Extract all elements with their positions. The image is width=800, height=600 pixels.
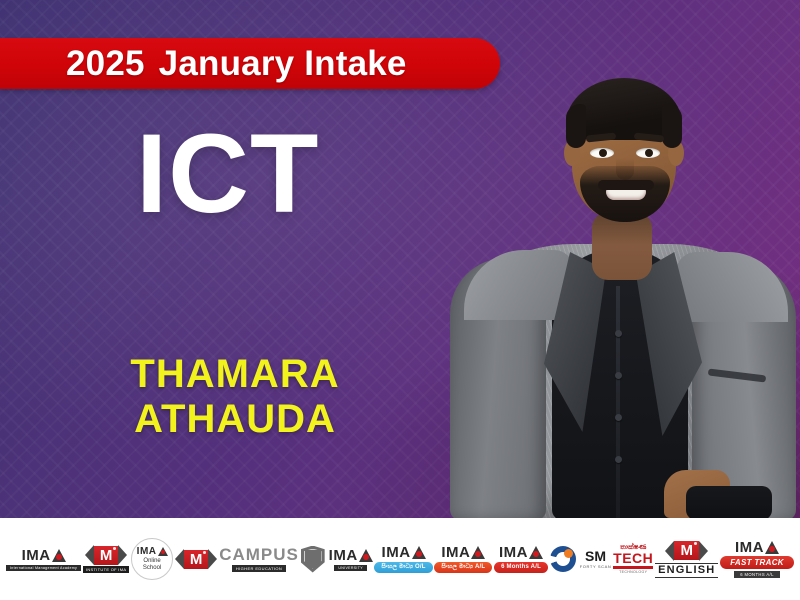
shirt-cuff — [686, 486, 772, 518]
hair-side-right — [662, 104, 682, 148]
sm-tagline: FORTY SCAN — [580, 564, 612, 569]
ima-letters: IMA — [137, 547, 157, 557]
ima-triangle-icon — [158, 547, 168, 556]
m-letter: M — [680, 543, 693, 558]
m-block-mark: M — [175, 549, 218, 569]
logo-tech: තාක්ෂණ TECH TECHNOLOGY — [613, 537, 653, 581]
sinhala-ol-badge: සිංහල මාධ්‍ය O/L — [374, 562, 432, 573]
ima-wordmark: IMA — [329, 548, 373, 563]
right-pupil — [645, 149, 653, 157]
arrow-right-icon — [208, 549, 217, 569]
ima-wordmark: IMA — [499, 545, 543, 560]
ima-letters: IMA — [499, 545, 528, 560]
arrow-left-icon — [175, 549, 184, 569]
tech-mark: තාක්ෂණ TECH TECHNOLOGY — [613, 544, 653, 574]
m-letter: M — [190, 552, 203, 567]
tech-underline — [613, 566, 653, 569]
logo-sm-forty-scan: SM FORTY SCAN — [550, 537, 612, 581]
ima-letters: IMA — [329, 548, 358, 563]
logo-ima-sinhala-ol: IMA සිංහල මාධ්‍ය O/L — [374, 537, 432, 581]
arrow-left-icon — [665, 541, 674, 561]
registered-dot-icon — [113, 547, 116, 550]
fast-track-duration: 6 MONTHS A/L — [734, 571, 780, 578]
logo-ima-sinhala-al: IMA සිංහල මාධ්‍ය A/L — [434, 537, 492, 581]
logo-ima-m-block: M INSTITUTE OF IMA — [83, 537, 129, 581]
m-block-mark: M — [665, 541, 708, 561]
ima-letters: IMA — [382, 545, 411, 560]
m-letter-box: M — [184, 550, 209, 569]
campus-tagline: HIGHER EDUCATION — [232, 565, 286, 572]
shirt-button — [615, 330, 622, 337]
ima-triangle-icon — [765, 541, 779, 554]
logo-ima-main: IMA International Management Academy — [6, 537, 81, 581]
online-school-circle: IMA Online School — [131, 538, 173, 580]
intake-ribbon-text: 2025January Intake — [66, 46, 407, 81]
shirt-button — [615, 414, 622, 421]
m-letter-box: M — [94, 546, 119, 565]
online-school-line1: Online — [143, 558, 160, 564]
m-block-caption: INSTITUTE OF IMA — [83, 566, 129, 573]
ima-letters: IMA — [22, 548, 51, 563]
campus-wordmark: CAMPUS — [219, 546, 299, 563]
logo-campus: CAMPUS HIGHER EDUCATION — [219, 537, 299, 581]
english-label: ENGLISH — [655, 563, 718, 578]
logo-ima-fast-track: IMA FAST TRACK 6 MONTHS A/L — [720, 537, 794, 581]
ima-wordmark: IMA — [137, 547, 168, 557]
ima-triangle-icon — [529, 546, 543, 559]
tech-tagline: TECHNOLOGY — [619, 570, 647, 574]
online-school-line2: School — [143, 565, 161, 571]
ima-triangle-icon — [471, 546, 485, 559]
fast-track-badge: FAST TRACK — [720, 556, 794, 569]
intake-label: January Intake — [159, 44, 407, 83]
logo-ima-english: M ENGLISH — [655, 537, 718, 581]
instructor-name: THAMARA ATHAUDA — [0, 352, 470, 442]
arrow-right-icon — [118, 545, 127, 565]
sm-wordmark: SM — [585, 549, 606, 563]
ima-wordmark: IMA — [22, 548, 66, 563]
intake-ribbon: 2025January Intake — [0, 38, 500, 89]
university-tagline: UNIVERSITY — [334, 565, 367, 571]
shirt-button — [615, 372, 622, 379]
logo-ima-6-months-al: IMA 6 Months A/L — [494, 537, 548, 581]
hair-side-left — [566, 104, 586, 148]
moustache — [598, 180, 654, 190]
tech-wordmark: TECH — [613, 551, 653, 565]
shirt-placket — [616, 286, 620, 518]
shirt-button — [615, 456, 622, 463]
m-letter: M — [100, 548, 113, 563]
ima-triangle-icon — [412, 546, 426, 559]
partner-logo-bar: IMA International Management Academy M I… — [0, 518, 800, 600]
registered-dot-icon — [694, 542, 697, 545]
ima-triangle-icon — [52, 549, 66, 562]
promo-poster: 2025January Intake ICT THAMARA ATHAUDA I… — [0, 0, 800, 600]
instructor-first-name: THAMARA — [0, 352, 470, 397]
crest-shield-icon — [301, 546, 325, 573]
logo-ima-university: IMA UNIVERSITY — [301, 537, 373, 581]
arrow-right-icon — [699, 541, 708, 561]
instructor-last-name: ATHAUDA — [0, 397, 470, 442]
logo-ima-m-campus: M — [175, 537, 218, 581]
m-letter-box: M — [674, 541, 699, 560]
ima-wordmark: IMA — [735, 540, 779, 555]
ima-wordmark: IMA — [382, 545, 426, 560]
arrow-left-icon — [85, 545, 94, 565]
ima-wordmark: IMA — [441, 545, 485, 560]
sm-circle-icon — [550, 546, 576, 572]
intake-year: 2025 — [66, 44, 145, 83]
sm-mark-wrap: SM FORTY SCAN — [550, 546, 612, 572]
left-pupil — [599, 149, 607, 157]
m-block-mark: M — [85, 545, 128, 565]
ima-letters: IMA — [735, 540, 764, 555]
registered-dot-icon — [203, 551, 206, 554]
six-months-al-badge: 6 Months A/L — [494, 562, 548, 573]
ima-tagline: International Management Academy — [6, 565, 81, 571]
ima-triangle-icon — [359, 549, 373, 562]
sinhala-al-badge: සිංහල මාධ්‍ය A/L — [434, 562, 492, 573]
logo-ima-online-school: IMA Online School — [131, 537, 173, 581]
course-title: ICT — [136, 118, 319, 230]
ima-letters: IMA — [441, 545, 470, 560]
